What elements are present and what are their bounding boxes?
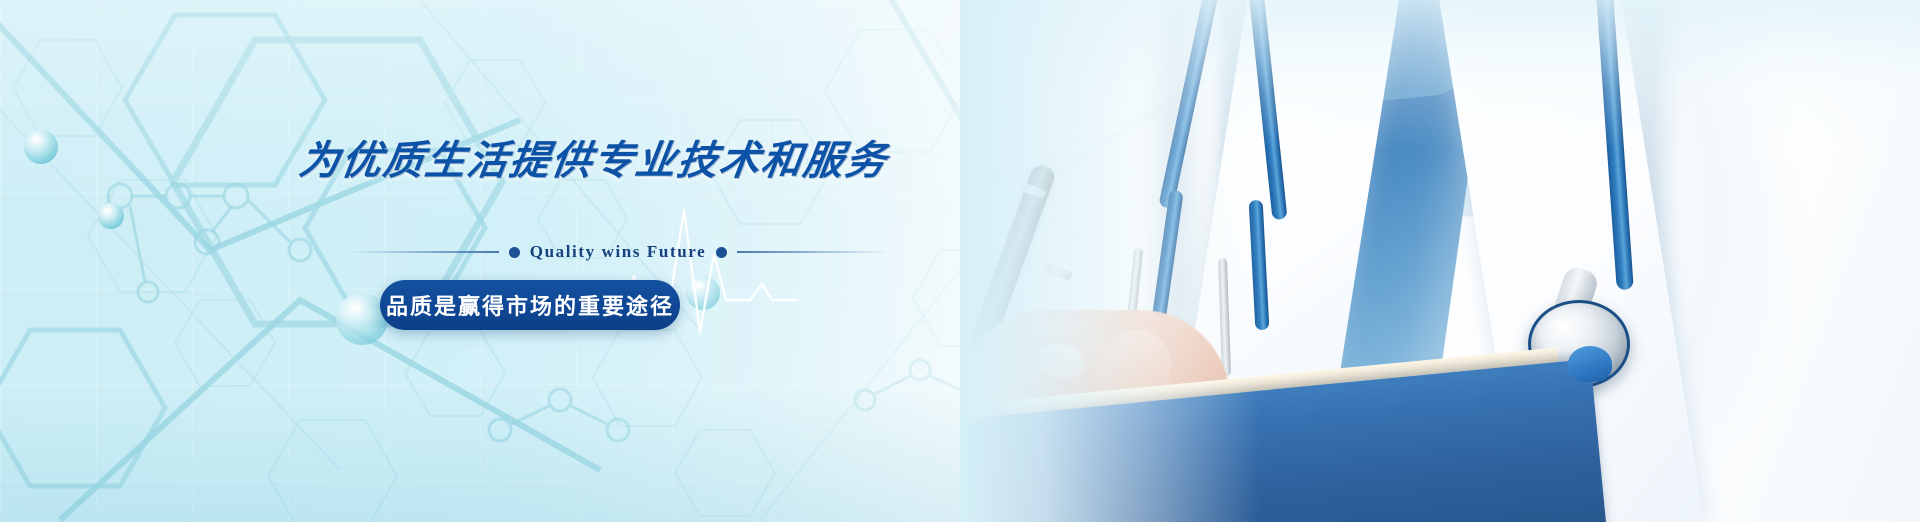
clipboard-blue-tab xyxy=(1568,346,1612,382)
banner-content: 为优质生活提供专业技术和服务 Quality wins Future 品质是赢得… xyxy=(0,0,1000,522)
tagline-text: Quality wins Future xyxy=(530,242,707,262)
tagline-rule-left xyxy=(348,251,499,253)
page-title: 为优质生活提供专业技术和服务 xyxy=(296,128,892,186)
medical-hero-banner: 为优质生活提供专业技术和服务 Quality wins Future 品质是赢得… xyxy=(0,0,1920,522)
tagline-row: Quality wins Future xyxy=(348,242,888,262)
tagline-rule-right xyxy=(737,251,888,253)
slogan-button[interactable]: 品质是赢得市场的重要途径 xyxy=(380,280,680,330)
bullet-dot-right-icon xyxy=(716,247,727,258)
bullet-dot-left-icon xyxy=(509,247,520,258)
doctor-photo xyxy=(960,0,1920,522)
